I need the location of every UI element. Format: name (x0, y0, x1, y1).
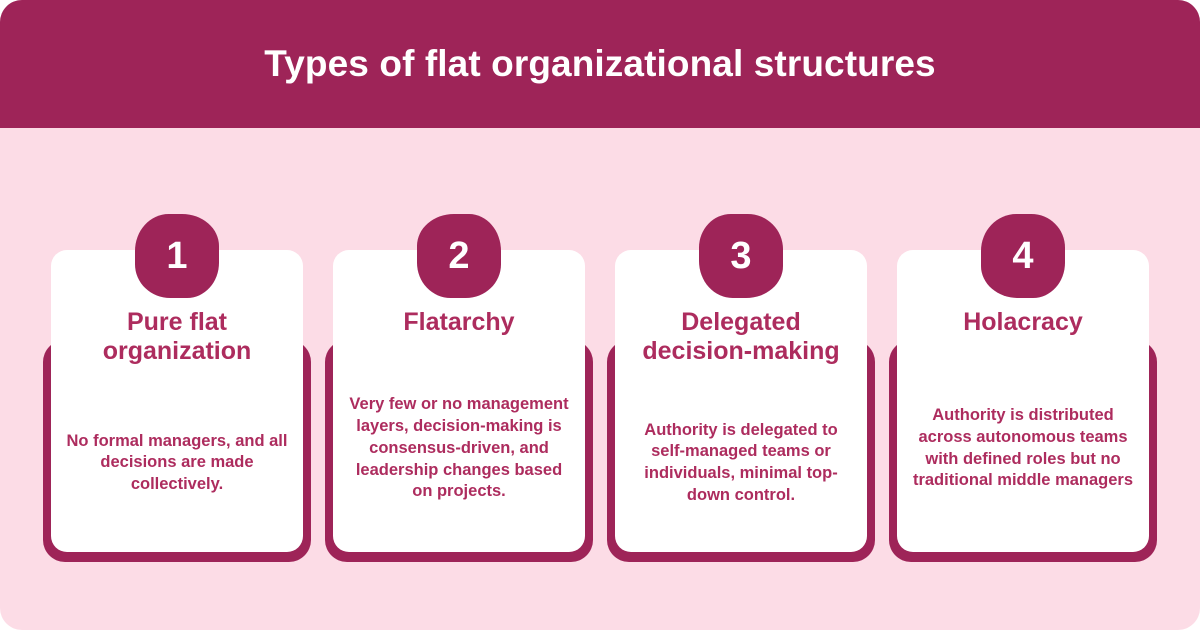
card-number-label: 1 (166, 237, 187, 275)
card-row: 1 Pure flat organization No formal manag… (0, 214, 1200, 584)
card-number-label: 4 (1012, 237, 1033, 275)
card-number-badge: 4 (981, 214, 1065, 298)
info-card: 2 Flatarchy Very few or no management la… (329, 214, 589, 564)
header-banner: Types of flat organizational structures (0, 0, 1200, 128)
card-number-badge: 2 (417, 214, 501, 298)
card-description: No formal managers, and all decisions ar… (65, 405, 289, 496)
card-title: Pure flat organization (65, 308, 289, 367)
card-number-label: 2 (448, 237, 469, 275)
card-number-badge: 3 (699, 214, 783, 298)
info-card: 4 Holacracy Authority is distributed acr… (893, 214, 1153, 564)
card-title: Holacracy (963, 308, 1083, 337)
card-description: Very few or no management layers, decisi… (347, 368, 571, 503)
card-description: Authority is delegated to self-managed t… (629, 394, 853, 507)
card-number-badge: 1 (135, 214, 219, 298)
info-card: 3 Delegated decision-making Authority is… (611, 214, 871, 564)
card-description: Authority is distributed across autonomo… (911, 379, 1135, 492)
info-card: 1 Pure flat organization No formal manag… (47, 214, 307, 564)
infographic-canvas: Types of flat organizational structures … (0, 0, 1200, 630)
card-number-label: 3 (730, 237, 751, 275)
card-title: Flatarchy (403, 308, 514, 337)
page-title: Types of flat organizational structures (264, 44, 935, 85)
card-title: Delegated decision-making (629, 308, 853, 367)
